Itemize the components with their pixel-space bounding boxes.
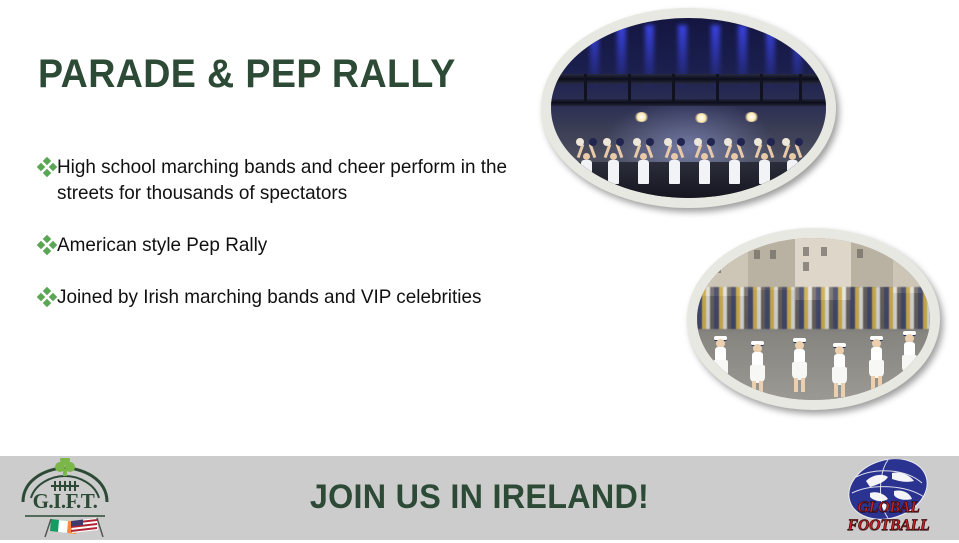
page-title: PARADE & PEP RALLY bbox=[38, 52, 527, 96]
pep-rally-stage-photo bbox=[541, 8, 836, 208]
slide-canvas: PARADE & PEP RALLY High school marching … bbox=[0, 0, 959, 540]
bullet-text: American style Pep Rally bbox=[57, 233, 267, 259]
list-item: Joined by Irish marching bands and VIP c… bbox=[38, 285, 558, 311]
usa-flag-icon bbox=[71, 518, 103, 537]
bullet-list: High school marching bands and cheer per… bbox=[38, 155, 558, 311]
list-item: High school marching bands and cheer per… bbox=[38, 155, 558, 207]
green-diamond-bullet-icon bbox=[38, 236, 57, 256]
bullet-text: Joined by Irish marching bands and VIP c… bbox=[57, 285, 481, 311]
footer-banner-text: JOIN US IN IRELAND! bbox=[24, 478, 935, 517]
global-football-logo-text: GLOBAL FOOTBALL bbox=[826, 499, 951, 535]
list-item: American style Pep Rally bbox=[38, 233, 558, 259]
global-football-logo: GLOBAL FOOTBALL bbox=[826, 459, 951, 537]
footer-bar: G.I.F.T. JOIN US IN IRELAND! bbox=[0, 456, 959, 540]
green-diamond-bullet-icon bbox=[38, 158, 57, 178]
shamrock-icon bbox=[55, 458, 75, 476]
green-diamond-bullet-icon bbox=[38, 288, 57, 308]
street-parade-photo bbox=[687, 228, 940, 410]
bullet-text: High school marching bands and cheer per… bbox=[57, 155, 543, 207]
